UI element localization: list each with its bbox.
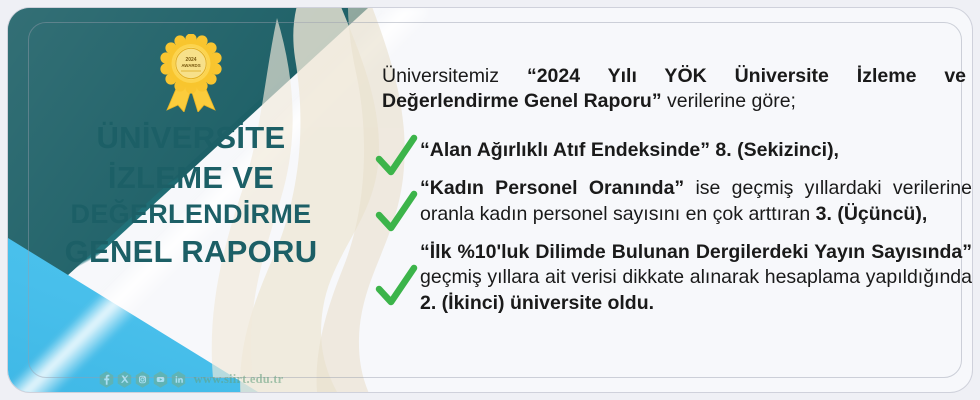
- bullet-3-bold: “İlk %10'luk Dilimde Bulunan Dergilerdek…: [420, 241, 972, 263]
- award-rosette-icon: 2024 AWARDS: [154, 34, 228, 112]
- list-item-text: “Alan Ağırlıklı Atıf Endeksinde” 8. (Sek…: [420, 138, 972, 163]
- page-title: ÜNİVERSİTE İZLEME VE DEĞERLENDİRME GENEL…: [41, 118, 341, 272]
- instagram-icon[interactable]: [135, 371, 150, 388]
- bullet-3-bold-tail: 2. (İkinci) üniversite oldu.: [420, 292, 654, 314]
- list-item-text: “Kadın Personel Oranında” ise geçmiş yıl…: [420, 176, 972, 227]
- intro-paragraph: Üniversitemiz “2024 Yılı YÖK Üniversite …: [382, 64, 966, 115]
- x-twitter-icon[interactable]: [117, 371, 132, 388]
- left-panel: 2024 AWARDS ÜNİVERSİTE İZLEME VE DEĞERLE…: [26, 18, 356, 392]
- facebook-icon[interactable]: [99, 371, 114, 388]
- bullet-1-mid: 8. (Sekizinci),: [710, 139, 839, 161]
- bullet-3-mid: geçmiş yıllara ait verisi dikkate alınar…: [420, 266, 972, 288]
- list-item-text: “İlk %10'luk Dilimde Bulunan Dergilerdek…: [420, 240, 972, 316]
- badge-label: AWARDS: [181, 63, 200, 68]
- intro-after: verilerine göre;: [662, 90, 796, 112]
- right-panel: Üniversitemiz “2024 Yılı YÖK Üniversite …: [368, 22, 972, 392]
- list-item: “İlk %10'luk Dilimde Bulunan Dergilerdek…: [368, 240, 972, 316]
- title-line-2: İZLEME VE: [41, 158, 341, 198]
- intro-before: Üniversitemiz: [382, 65, 527, 87]
- title-line-3: DEĞERLENDİRME: [41, 197, 341, 232]
- linkedin-icon[interactable]: [171, 371, 186, 388]
- website-url[interactable]: www.siirt.edu.tr: [194, 372, 284, 387]
- bullet-2-bold: “Kadın Personel Oranında”: [420, 177, 684, 199]
- check-icon: [374, 190, 418, 236]
- bullet-list: “Alan Ağırlıklı Atıf Endeksinde” 8. (Sek…: [368, 138, 972, 329]
- bullet-2-bold-tail: 3. (Üçüncü),: [816, 203, 928, 225]
- check-icon: [374, 134, 418, 180]
- check-icon: [374, 264, 418, 310]
- youtube-icon[interactable]: [153, 371, 168, 388]
- list-item: “Alan Ağırlıklı Atıf Endeksinde” 8. (Sek…: [368, 138, 972, 163]
- poster-root: 2024 AWARDS ÜNİVERSİTE İZLEME VE DEĞERLE…: [0, 0, 980, 400]
- list-item: “Kadın Personel Oranında” ise geçmiş yıl…: [368, 176, 972, 227]
- poster-card: 2024 AWARDS ÜNİVERSİTE İZLEME VE DEĞERLE…: [8, 8, 972, 392]
- title-line-4: GENEL RAPORU: [41, 232, 341, 272]
- footer-social-bar: www.siirt.edu.tr: [26, 371, 356, 388]
- title-line-1: ÜNİVERSİTE: [41, 118, 341, 158]
- bullet-1-bold: “Alan Ağırlıklı Atıf Endeksinde”: [420, 139, 710, 161]
